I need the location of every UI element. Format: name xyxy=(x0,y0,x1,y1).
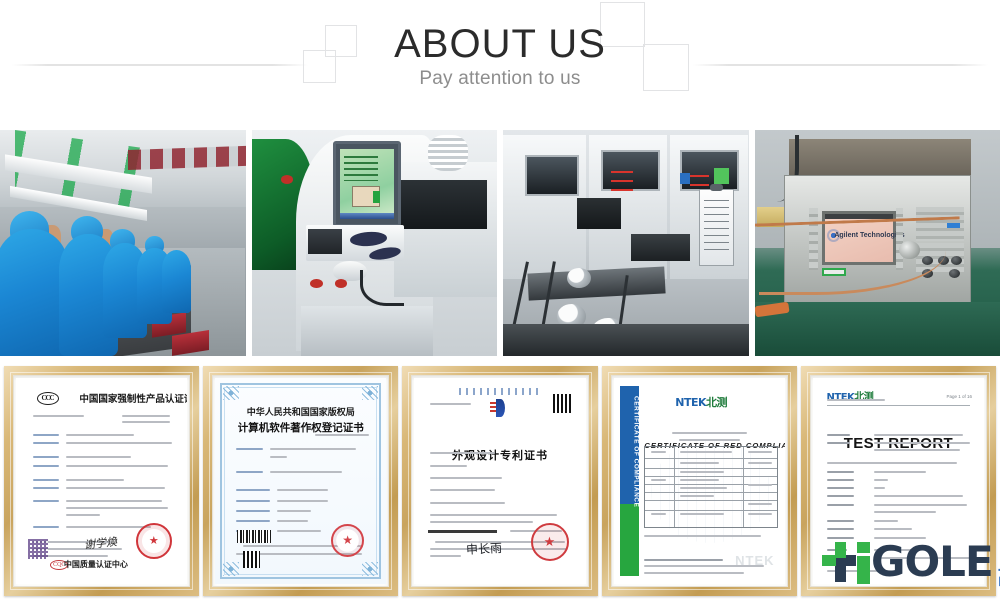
component-tray xyxy=(631,234,690,261)
ntek-brand-latin: NTEK xyxy=(827,392,855,403)
assembly-line-photo xyxy=(0,130,246,356)
certificate-row: CCC 中国国家强制性产品认证证书 xyxy=(4,366,996,596)
text-line xyxy=(827,520,854,522)
text-line xyxy=(827,557,854,559)
text-line xyxy=(827,479,854,481)
ntek-brand-logo: NTEK北测 xyxy=(675,394,727,410)
ntek-brand-cn: 北测 xyxy=(854,392,873,403)
warning-label-2 xyxy=(611,180,633,182)
text-line xyxy=(430,477,502,479)
table-row xyxy=(645,500,777,501)
text-line xyxy=(748,503,772,505)
text-line xyxy=(874,495,963,497)
text-line xyxy=(827,549,848,551)
text-line xyxy=(66,434,134,436)
text-line xyxy=(651,451,667,453)
text-line xyxy=(827,442,851,444)
clipboard-paper-lines xyxy=(704,200,729,254)
table-row xyxy=(645,476,777,477)
clipboard xyxy=(699,189,733,266)
text-line xyxy=(430,489,495,491)
ccc-issuer: 中国质量认证中心 xyxy=(64,559,128,570)
pc-drive-bay xyxy=(308,229,342,254)
ccc-certificate-mat: CCC 中国国家强制性产品认证证书 xyxy=(13,375,190,587)
text-line xyxy=(33,442,59,444)
text-line xyxy=(277,510,311,512)
rf-connector-5 xyxy=(949,269,960,278)
table-row xyxy=(645,458,777,459)
text-line xyxy=(66,514,100,516)
text-line xyxy=(827,495,854,497)
text-line xyxy=(66,487,165,489)
design-patent-certificate-frame: 外观设计专利证书 申长雨 xyxy=(402,366,597,596)
machine-viewport-1 xyxy=(525,155,579,196)
table-column-divider xyxy=(743,447,744,527)
text-line xyxy=(33,434,59,436)
text-line xyxy=(277,500,328,502)
software-copyright-certificate-frame: 中华人民共和国国家版权局 计算机软件著作权登记证书 xyxy=(203,366,398,596)
text-line xyxy=(644,535,760,537)
text-line xyxy=(66,465,169,467)
text-line xyxy=(827,528,854,530)
header-rule xyxy=(827,405,971,406)
text-line xyxy=(430,403,471,405)
table-row xyxy=(645,510,777,511)
test-report-mat: NTEK北测 Page 1 of 16 TEST REPORT xyxy=(810,375,987,587)
text-line xyxy=(680,471,725,473)
text-line xyxy=(33,500,59,502)
text-line xyxy=(874,504,966,506)
patent-qr-code-icon xyxy=(553,394,572,413)
text-line xyxy=(827,570,902,572)
text-line xyxy=(874,520,898,522)
text-line xyxy=(270,456,287,458)
screen-data-rows xyxy=(344,156,377,181)
patent-red-seal xyxy=(531,523,569,561)
text-line xyxy=(680,451,733,453)
esd-workbench xyxy=(755,302,1000,356)
crt-monitor xyxy=(333,141,402,227)
warning-label-1 xyxy=(611,171,633,173)
copyright-barcode-icon xyxy=(237,530,271,543)
design-patent-certificate: 外观设计专利证书 申长雨 xyxy=(414,378,585,584)
text-line xyxy=(33,415,84,417)
ntek-watermark: NTEK xyxy=(735,553,774,568)
text-line xyxy=(277,520,308,522)
corner-ornament-top-right xyxy=(362,386,378,400)
header-ornament xyxy=(459,388,541,395)
page-subtitle: Pay attention to us xyxy=(0,68,1000,90)
text-line xyxy=(66,479,124,481)
machine-floor-base xyxy=(503,324,749,356)
text-line xyxy=(827,399,885,401)
text-line xyxy=(827,471,854,473)
copyright-qr-code-icon xyxy=(243,551,260,568)
text-line xyxy=(827,487,854,489)
text-line xyxy=(236,510,270,512)
text-line xyxy=(679,439,741,441)
text-line xyxy=(680,487,727,489)
text-line xyxy=(430,502,505,504)
text-line xyxy=(874,449,960,451)
text-line xyxy=(236,500,270,502)
aoi-inspection-machine-photo xyxy=(252,130,498,356)
text-line xyxy=(33,479,59,481)
table-column-divider xyxy=(674,447,675,527)
component-hopper xyxy=(577,198,621,230)
text-line xyxy=(748,513,772,515)
text-line xyxy=(430,465,468,467)
text-line xyxy=(827,462,957,464)
text-line xyxy=(680,462,719,464)
warning-label-5 xyxy=(690,184,710,186)
screen-taskbar xyxy=(340,213,394,219)
text-line xyxy=(827,504,854,506)
text-line xyxy=(430,521,533,523)
ccc-certificate: CCC 中国国家强制性产品认证证书 xyxy=(16,378,187,584)
compliance-table xyxy=(644,446,778,528)
page-title: ABOUT US xyxy=(0,23,1000,66)
text-line xyxy=(874,549,915,551)
red-compliance-certificate-frame: CERTIFICATE OF COMPLIANCE NTEK北测 CERTIFI… xyxy=(602,366,797,596)
text-line xyxy=(270,448,356,450)
machine-viewport-3 xyxy=(680,150,739,191)
text-line xyxy=(874,442,970,444)
text-line xyxy=(651,513,667,515)
text-line xyxy=(827,537,854,539)
factory-photo-row: Agilent Technologies xyxy=(0,130,1000,356)
corner-ornament-bottom-left xyxy=(223,562,239,576)
cnipa-logo-icon xyxy=(490,399,510,417)
ccc-red-seal xyxy=(136,523,172,559)
text-line xyxy=(874,479,888,481)
text-line xyxy=(748,462,772,464)
ceiling-ducts xyxy=(128,146,246,170)
red-knob-1 xyxy=(310,279,322,288)
ccc-qr-code-icon xyxy=(28,539,48,559)
text-line xyxy=(874,434,963,436)
warning-label-3 xyxy=(611,189,633,191)
text-line xyxy=(430,555,461,557)
ntek-brand-logo: NTEK北测 xyxy=(827,388,874,403)
ntek-brand-cn: 北测 xyxy=(706,396,727,409)
rf-test-equipment-photo: Agilent Technologies xyxy=(755,130,1000,356)
ccc-certificate-title: 中国国家强制性产品认证证书 xyxy=(79,391,187,405)
copyright-red-seal xyxy=(331,524,364,557)
text-line xyxy=(672,432,747,434)
worker-5 xyxy=(162,250,191,313)
page-header: ABOUT US Pay attention to us xyxy=(0,0,1000,118)
red-compliance-certificate: CERTIFICATE OF COMPLIANCE NTEK北测 CERTIFI… xyxy=(614,378,785,584)
patent-signature: 申长雨 xyxy=(465,539,502,558)
pick-and-place-machine-photo xyxy=(503,130,749,356)
page-label: Page 1 of 16 xyxy=(947,394,973,399)
text-line xyxy=(680,495,714,497)
text-line xyxy=(236,448,263,450)
text-line xyxy=(66,442,172,444)
machine-base xyxy=(301,306,434,356)
ccc-mark-icon: CCC xyxy=(37,392,59,405)
text-line xyxy=(748,484,772,486)
text-line xyxy=(874,557,970,559)
blue-label xyxy=(680,173,690,184)
red-compliance-mat: CERTIFICATE OF COMPLIANCE NTEK北测 CERTIFI… xyxy=(611,375,788,587)
monitor-screen xyxy=(340,149,394,219)
logo-shape xyxy=(496,399,505,417)
text-line xyxy=(33,465,59,467)
text-line xyxy=(874,528,912,530)
copyright-certificate-title: 计算机软件著作权登记证书 xyxy=(215,420,386,435)
text-line xyxy=(236,520,270,522)
text-line xyxy=(122,421,170,423)
flexible-duct xyxy=(428,135,467,171)
text-line xyxy=(644,572,743,574)
text-line xyxy=(122,415,170,417)
text-line xyxy=(827,434,851,436)
text-line xyxy=(66,507,169,509)
text-line xyxy=(66,500,162,502)
text-line xyxy=(651,479,667,481)
text-line xyxy=(874,471,925,473)
corner-ornament-top-left xyxy=(223,386,239,400)
text-line xyxy=(680,479,719,481)
text-line xyxy=(430,514,557,516)
text-line xyxy=(748,451,772,453)
header-text-block: ABOUT US Pay attention to us xyxy=(0,0,1000,90)
wall-shelf xyxy=(789,139,971,175)
compliance-sidebar-text: CERTIFICATE OF COMPLIANCE xyxy=(620,386,639,514)
text-line xyxy=(277,489,328,491)
test-report-certificate: NTEK北测 Page 1 of 16 TEST REPORT xyxy=(813,378,984,584)
green-label xyxy=(714,168,729,184)
text-line xyxy=(680,513,725,515)
text-line xyxy=(874,511,936,513)
text-line xyxy=(236,489,270,491)
table-row xyxy=(645,492,777,493)
about-us-page: ABOUT US Pay attention to us xyxy=(0,0,1000,600)
machine-window xyxy=(399,180,487,230)
software-copyright-certificate: 中华人民共和国国家版权局 计算机软件著作权登记证书 xyxy=(215,378,386,584)
text-line xyxy=(874,487,884,489)
copyright-authority-line: 中华人民共和国国家版权局 xyxy=(215,405,386,418)
corner-ornament-bottom-right xyxy=(362,562,378,576)
text-line xyxy=(644,559,723,561)
warning-label-4 xyxy=(690,175,710,177)
table-row xyxy=(645,468,777,469)
text-line xyxy=(874,537,925,539)
text-line xyxy=(430,452,495,454)
ccc-certificate-frame: CCC 中国国家强制性产品认证证书 xyxy=(4,366,199,596)
text-line xyxy=(66,456,131,458)
text-line xyxy=(236,471,263,473)
text-line xyxy=(270,471,342,473)
design-patent-mat: 外观设计专利证书 申长雨 xyxy=(411,375,588,587)
text-line xyxy=(33,526,59,528)
text-line xyxy=(33,487,59,489)
screen-green-block xyxy=(373,191,379,202)
software-copyright-mat: 中华人民共和国国家版权局 计算机软件著作权登记证书 xyxy=(212,375,389,587)
ntek-brand-latin: NTEK xyxy=(675,396,706,409)
test-report-certificate-frame: NTEK北测 Page 1 of 16 TEST REPORT xyxy=(801,366,996,596)
patent-footer-strip xyxy=(428,530,496,533)
text-line xyxy=(33,456,59,458)
text-line xyxy=(315,434,370,436)
